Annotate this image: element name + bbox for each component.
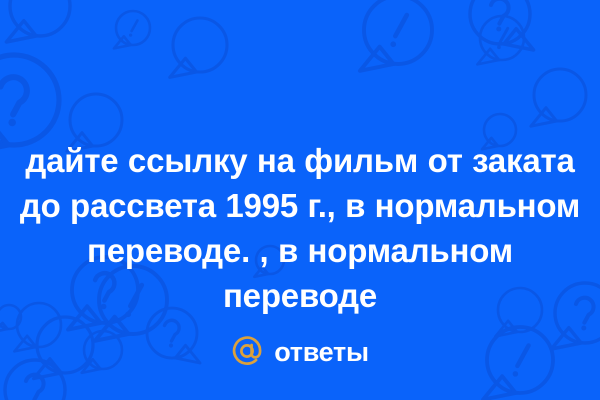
answers-social-card: дайте ссылку на фильм от заката до рассв…: [0, 0, 600, 400]
card-content: дайте ссылку на фильм от заката до рассв…: [0, 0, 600, 400]
question-headline: дайте ссылку на фильм от заката до рассв…: [8, 138, 592, 318]
brand-name-label: ответы: [274, 339, 368, 366]
brand-lockup: ответы: [0, 330, 600, 372]
at-sign-icon: [231, 335, 263, 367]
